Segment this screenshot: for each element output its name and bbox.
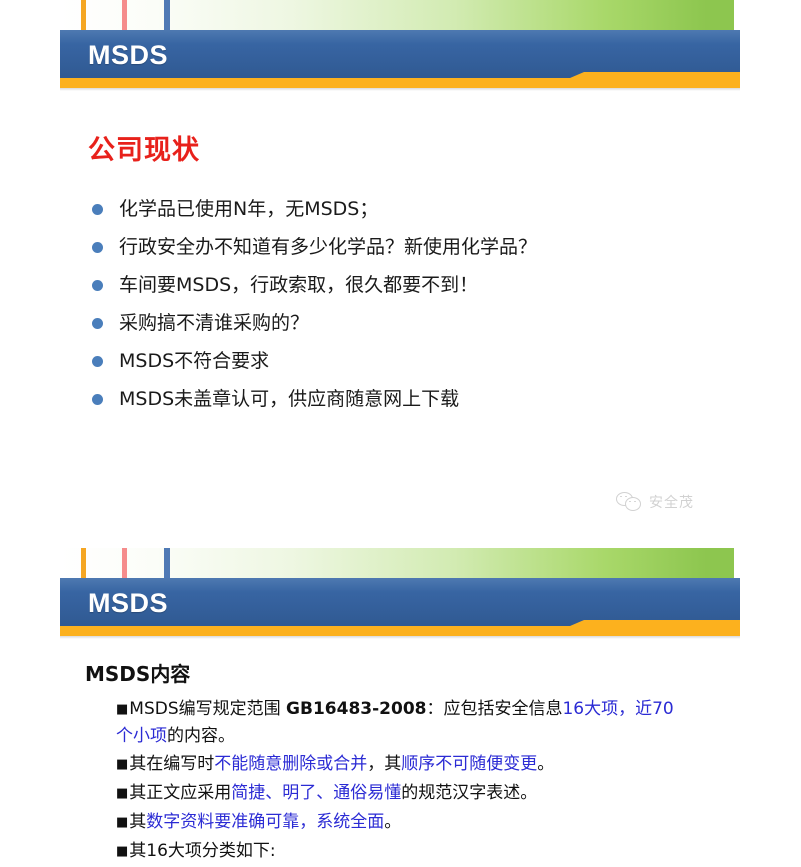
slide-company-status: MSDS 公司现状 化学品已使用N年，无MSDS； 行政安全办不知道有多少化学品… [0, 0, 801, 540]
content-line: ■其在编写时不能随意删除或合并，其顺序不可随便变更。 [116, 751, 676, 778]
content-line: ■其16大项分类如下: [116, 838, 676, 865]
content-segment: MSDS编写规定范围 [129, 699, 286, 719]
bullet-label: MSDS不符合要求 [119, 347, 269, 375]
bullet-dot-icon [92, 280, 103, 291]
bullet-label: MSDS未盖章认可，供应商随意网上下载 [119, 385, 459, 413]
content-segment: 简捷、明了、通俗易懂 [231, 783, 401, 803]
slides-page: MSDS 公司现状 化学品已使用N年，无MSDS； 行政安全办不知道有多少化学品… [0, 0, 801, 858]
msds-content-list: ■MSDS编写规定范围 GB16483-2008：应包括安全信息16大项，近70… [116, 696, 676, 867]
content-segment: ：应包括安全信息 [426, 699, 562, 719]
content-segment: 顺序不可随便变更 [401, 754, 537, 774]
content-segment: 的规范汉字表述。 [401, 783, 537, 803]
header-accent-stripe-orange [81, 548, 86, 578]
content-line: ■其正文应采用简捷、明了、通俗易懂的规范汉字表述。 [116, 780, 676, 807]
bullet-dot-icon [92, 394, 103, 405]
bullet-label: 车间要MSDS，行政索取，很久都要不到！ [119, 271, 478, 299]
bullet-dot-icon [92, 356, 103, 367]
wechat-watermark: 安全茂 [616, 492, 694, 512]
list-item: 车间要MSDS，行政索取，很久都要不到！ [92, 271, 712, 309]
header-green-strip [60, 548, 740, 578]
list-item: 化学品已使用N年，无MSDS； [92, 195, 712, 233]
square-bullet-icon: ■ [116, 702, 128, 717]
square-bullet-icon: ■ [116, 815, 128, 830]
list-item: 采购搞不清谁采购的？ [92, 309, 712, 347]
list-item: MSDS不符合要求 [92, 347, 712, 385]
content-segment: 的内容。 [167, 726, 235, 746]
content-line: ■MSDS编写规定范围 GB16483-2008：应包括安全信息16大项，近70… [116, 696, 676, 749]
header-accent-stripe-pink [122, 548, 127, 578]
content-segment: 不能随意删除或合并 [214, 754, 367, 774]
content-segment: 。 [384, 812, 401, 832]
content-segment: 其16大项分类如下: [129, 841, 275, 861]
square-bullet-icon: ■ [116, 844, 128, 859]
header-accent-stripe-bluegray [164, 548, 170, 578]
content-segment: 。 [537, 754, 554, 774]
content-line: ■其数字资料要准确可靠，系统全面。 [116, 809, 676, 836]
content-segment: 其在编写时 [129, 754, 214, 774]
wechat-icon [616, 492, 642, 512]
bullet-label: 化学品已使用N年，无MSDS； [119, 195, 378, 223]
header-accent-stripe-bluegray [164, 0, 170, 30]
issue-bullet-list: 化学品已使用N年，无MSDS； 行政安全办不知道有多少化学品？新使用化学品？ 车… [92, 195, 712, 423]
header-drop-shadow [60, 636, 740, 639]
content-segment: GB16483-2008 [286, 699, 426, 719]
header-accent-stripe-orange [81, 0, 86, 30]
slide-title: MSDS [88, 36, 168, 74]
content-segment: 其正文应采用 [129, 783, 231, 803]
section-heading: 公司现状 [88, 128, 200, 167]
header-green-strip [60, 0, 740, 30]
bullet-label: 采购搞不清谁采购的？ [119, 309, 309, 337]
header-green-strip-cap [734, 0, 740, 30]
slide-title: MSDS [88, 584, 168, 622]
header-drop-shadow [60, 88, 740, 91]
content-heading: MSDS内容 [85, 658, 190, 687]
content-segment: 数字资料要准确可靠，系统全面 [146, 812, 384, 832]
slide-header-banner: MSDS [60, 548, 740, 636]
square-bullet-icon: ■ [116, 786, 128, 801]
content-segment: ，其 [367, 754, 401, 774]
watermark-label: 安全茂 [649, 492, 694, 512]
slide-header-banner: MSDS [60, 0, 740, 88]
list-item: 行政安全办不知道有多少化学品？新使用化学品？ [92, 233, 712, 271]
bullet-dot-icon [92, 242, 103, 253]
list-item: MSDS未盖章认可，供应商随意网上下载 [92, 385, 712, 423]
header-green-strip-cap [734, 548, 740, 578]
square-bullet-icon: ■ [116, 757, 128, 772]
content-segment: 其 [129, 812, 146, 832]
bullet-label: 行政安全办不知道有多少化学品？新使用化学品？ [119, 233, 537, 261]
bullet-dot-icon [92, 204, 103, 215]
slide-msds-content: MSDS MSDS内容 ■MSDS编写规定范围 GB16483-2008：应包括… [0, 548, 801, 858]
bullet-dot-icon [92, 318, 103, 329]
header-accent-stripe-pink [122, 0, 127, 30]
